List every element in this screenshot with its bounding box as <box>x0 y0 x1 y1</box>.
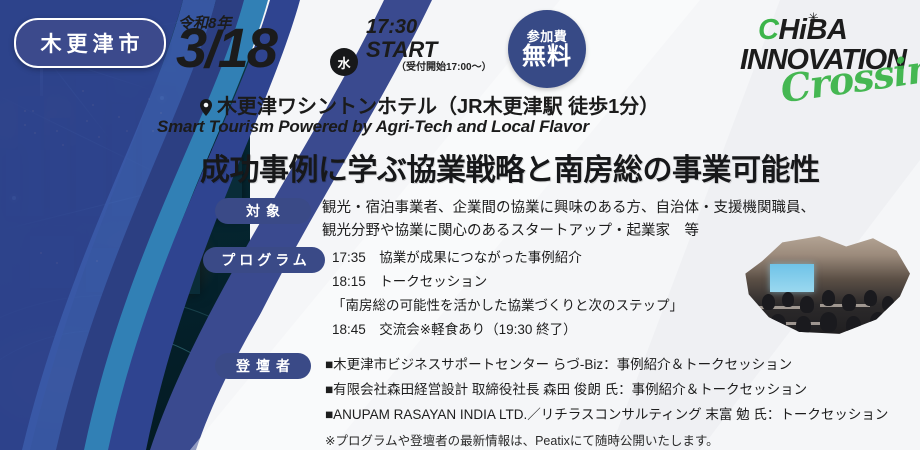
fee-title: 参加費 <box>527 29 568 44</box>
map-pin-icon <box>200 99 212 116</box>
speakers-text: ■木更津市ビジネスサポートセンター らづ-Biz：事例紹介＆トークセッション ■… <box>325 352 905 427</box>
program-line: 17:35 協業が成果につながった事例紹介 <box>332 246 762 270</box>
reception-note: （受付開始17:00〜） <box>396 58 492 73</box>
city-badge-label: 木更津市 <box>36 28 145 58</box>
poster-content: 木更津市 令和8年 3/18 水 17:30 START （受付開始17:00〜… <box>0 0 920 450</box>
section-pill-program: プログラム <box>203 247 325 273</box>
target-line: 観光・宿泊事業者、企業間の協業に興味のある方、自治体・支援機関職員、 <box>322 197 902 220</box>
section-pill-target-label: 対象 <box>240 201 286 221</box>
event-day: 18 <box>218 16 276 79</box>
program-line: 18:45 交流会※軽食あり（19:30 終了） <box>332 318 762 342</box>
section-pill-program-label: プログラム <box>217 250 311 270</box>
venue-line: 木更津ワシントンホテル（JR木更津駅 徒歩1分） <box>200 90 900 119</box>
program-line: 18:15 トークセッション <box>332 270 762 294</box>
program-text: 17:35 協業が成果につながった事例紹介 18:15 トークセッション 「南房… <box>332 246 762 342</box>
start-time: 17:30 <box>366 16 437 38</box>
target-text: 観光・宿泊事業者、企業間の協業に興味のある方、自治体・支援機関職員、 観光分野や… <box>322 197 902 243</box>
venue-text: 木更津ワシントンホテル（JR木更津駅 徒歩1分） <box>217 96 659 118</box>
logo-line1: CHiBA <box>758 14 847 47</box>
date-block: 令和8年 3/18 水 17:30 START （受付開始17:00〜） <box>178 4 518 84</box>
english-subtitle: Smart Tourism Powered by Agri-Tech and L… <box>157 117 917 137</box>
date-slash: / <box>205 21 217 79</box>
target-line: 観光分野や協業に関心のあるスタートアップ・起業家 等 <box>322 220 902 243</box>
section-pill-speakers: 登壇者 <box>215 353 311 379</box>
day-of-week-badge: 水 <box>330 48 358 76</box>
event-month: 3 <box>176 16 205 79</box>
section-pill-speakers-label: 登壇者 <box>230 356 296 376</box>
event-date: 3/18 <box>176 20 276 78</box>
speaker-line: ■木更津市ビジネスサポートセンター らづ-Biz：事例紹介＆トークセッション <box>325 352 905 377</box>
chiba-innovation-crossing-logo: ✳ CHiBA INNOVATION Crossing <box>748 8 913 96</box>
logo-line1-rest: HiBA <box>778 14 847 46</box>
footnote: ※プログラムや登壇者の最新情報は、Peatixにて随時公開いたします。 <box>325 430 719 449</box>
speaker-line: ■有限会社森田経営設計 取締役社長 森田 俊朗 氏：事例紹介＆トークセッション <box>325 377 905 402</box>
fee-badge: 参加費 無料 <box>508 10 586 88</box>
event-poster: 木更津市 令和8年 3/18 水 17:30 START （受付開始17:00〜… <box>0 0 920 450</box>
program-line: 「南房総の可能性を活かした協業づくりと次のステップ」 <box>332 294 762 318</box>
start-time-block: 17:30 START <box>366 16 437 62</box>
page-title: 成功事例に学ぶ協業戦略と南房総の事業可能性 <box>200 145 900 189</box>
city-badge: 木更津市 <box>14 18 166 68</box>
section-pill-target: 対象 <box>215 198 311 224</box>
speaker-line: ■ANUPAM RASAYAN INDIA LTD.／リチラスコンサルティング … <box>325 402 905 427</box>
logo-line1-first: C <box>758 14 778 46</box>
fee-value: 無料 <box>522 44 572 70</box>
